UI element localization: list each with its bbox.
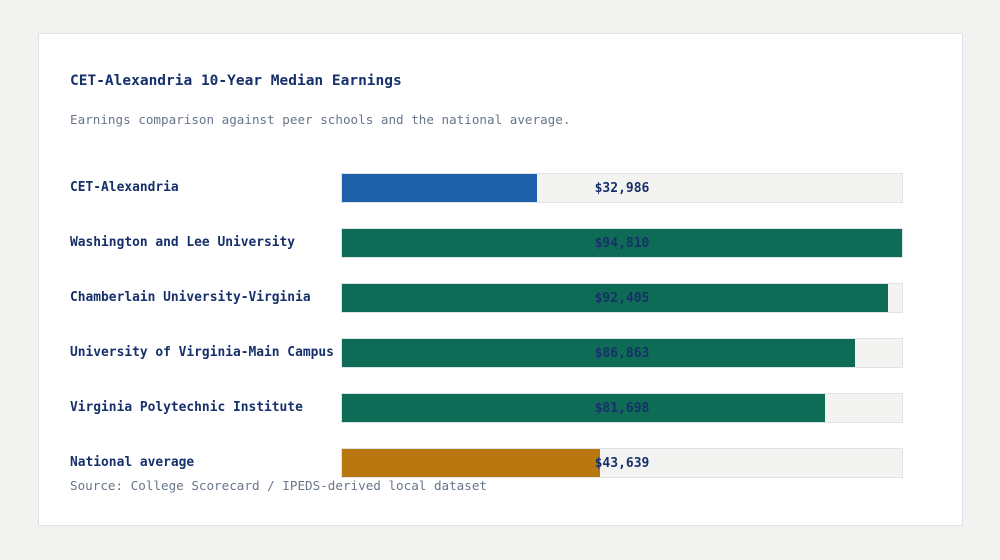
bar-track: $86,863	[341, 338, 903, 368]
bar-track: $94,810	[341, 228, 903, 258]
bar-row: CET-Alexandria$32,986	[39, 173, 962, 228]
bar-value-label: $81,698	[342, 394, 902, 424]
page-title: CET-Alexandria 10-Year Median Earnings	[70, 73, 402, 89]
bar-track: $43,639	[341, 448, 903, 478]
bar-value-label: $94,810	[342, 229, 902, 259]
bar-row: Chamberlain University-Virginia$92,405	[39, 283, 962, 338]
bar-row: Washington and Lee University$94,810	[39, 228, 962, 283]
bar-chart-rows: CET-Alexandria$32,986Washington and Lee …	[39, 173, 962, 503]
bar-value-label: $86,863	[342, 339, 902, 369]
bar-track: $92,405	[341, 283, 903, 313]
bar-row-label: Virginia Polytechnic Institute	[70, 393, 341, 423]
bar-row-label: Chamberlain University-Virginia	[70, 283, 341, 313]
bar-value-label: $92,405	[342, 284, 902, 314]
bar-value-label: $43,639	[342, 449, 902, 479]
bar-row-label: National average	[70, 448, 341, 478]
bar-row: University of Virginia-Main Campus$86,86…	[39, 338, 962, 393]
card-content: CET-Alexandria 10-Year Median Earnings E…	[39, 34, 962, 525]
bar-row: Virginia Polytechnic Institute$81,698	[39, 393, 962, 448]
bar-row-label: CET-Alexandria	[70, 173, 341, 203]
earnings-comparison-card: CET-Alexandria 10-Year Median Earnings E…	[38, 33, 963, 526]
bar-row-label: Washington and Lee University	[70, 228, 341, 258]
source-note: Source: College Scorecard / IPEDS-derive…	[70, 478, 487, 493]
bar-row: National average$43,639	[39, 448, 962, 503]
bar-row-label: University of Virginia-Main Campus	[70, 338, 341, 368]
bar-value-label: $32,986	[342, 174, 902, 204]
bar-track: $32,986	[341, 173, 903, 203]
chart-subtitle: Earnings comparison against peer schools…	[70, 112, 570, 127]
bar-track: $81,698	[341, 393, 903, 423]
